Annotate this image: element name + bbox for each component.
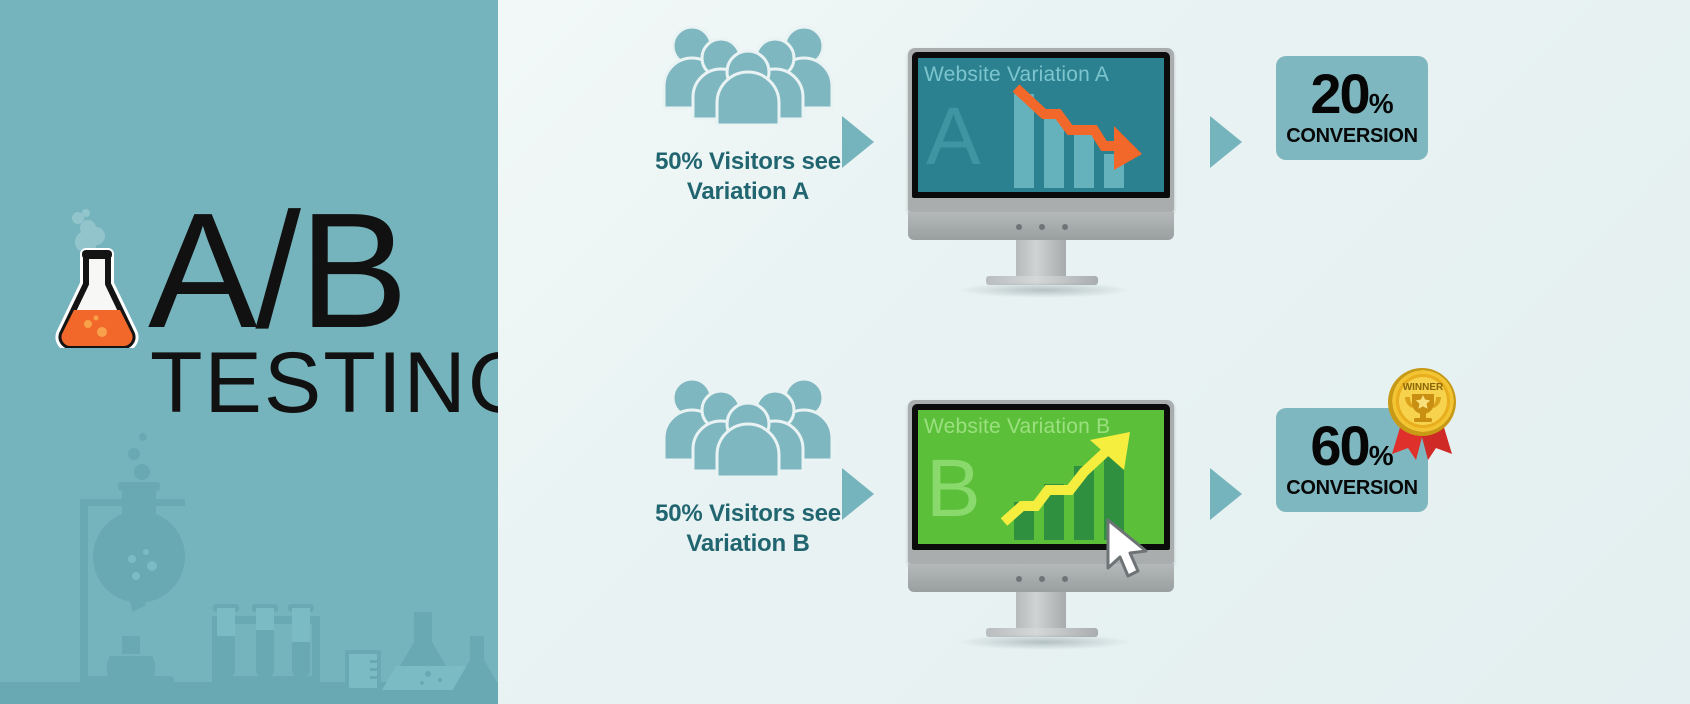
screen-title-b: Website Variation B	[924, 415, 1110, 439]
screen-letter-b: B	[926, 448, 981, 530]
monitor-bezel-a: Website Variation A A	[908, 48, 1174, 212]
monitor-variation-a: Website Variation A A	[908, 48, 1178, 278]
winner-badge-label: WINNER	[1403, 382, 1444, 393]
page-title: A/B	[148, 196, 406, 346]
brand-panel: A/B TESTING	[0, 0, 498, 704]
monitor-shadow-a	[956, 282, 1132, 298]
visitors-caption-a-line2: Variation A	[608, 177, 888, 207]
conversion-label-b: CONVERSION	[1276, 477, 1428, 500]
flow-arrow-b-1	[842, 468, 874, 520]
monitor-neck-b	[1016, 592, 1066, 630]
monitor-indicator-dots-b	[1016, 576, 1068, 582]
monitor-shadow-b	[956, 634, 1132, 650]
visitors-caption-b-line2: Variation B	[608, 529, 888, 559]
conversion-percent-a: %	[1369, 88, 1394, 119]
monitor-variation-b: Website Variation B B	[908, 400, 1178, 630]
screen-letter-a: A	[926, 96, 981, 178]
lab-flask-icon	[52, 248, 142, 348]
conversion-number-a: 20	[1310, 62, 1368, 125]
monitor-indicator-dots-a	[1016, 224, 1068, 230]
flow-arrow-a-2	[1210, 116, 1242, 168]
page-subtitle: TESTING	[150, 340, 498, 426]
mouse-pointer-icon[interactable]	[1104, 518, 1150, 580]
conversion-label-a: CONVERSION	[1276, 125, 1428, 148]
screen-title-a: Website Variation A	[924, 63, 1109, 87]
variation-a-row: 50% Visitors see Variation A	[498, 0, 1690, 352]
conversion-number-b: 60	[1310, 414, 1368, 477]
conversion-value-a: 20%	[1276, 66, 1428, 132]
infographic-canvas: A/B TESTING 50% Visitor	[0, 0, 1690, 704]
conversion-badge-a: 20% CONVERSION	[1276, 56, 1428, 160]
visitors-block-b: 50% Visitors see Variation B	[608, 372, 888, 559]
flow-arrow-a-1	[842, 116, 874, 168]
variation-b-row: 50% Visitors see Variation B	[498, 352, 1690, 704]
lab-equipment-background-illustration	[0, 404, 498, 704]
flow-arrow-b-2	[1210, 468, 1242, 520]
group-of-people-icon	[658, 372, 838, 477]
visitors-block-a: 50% Visitors see Variation A	[608, 20, 888, 207]
gold-medal-trophy-icon: WINNER	[1378, 362, 1466, 462]
monitor-neck-a	[1016, 240, 1066, 278]
group-of-people-icon	[658, 20, 838, 125]
